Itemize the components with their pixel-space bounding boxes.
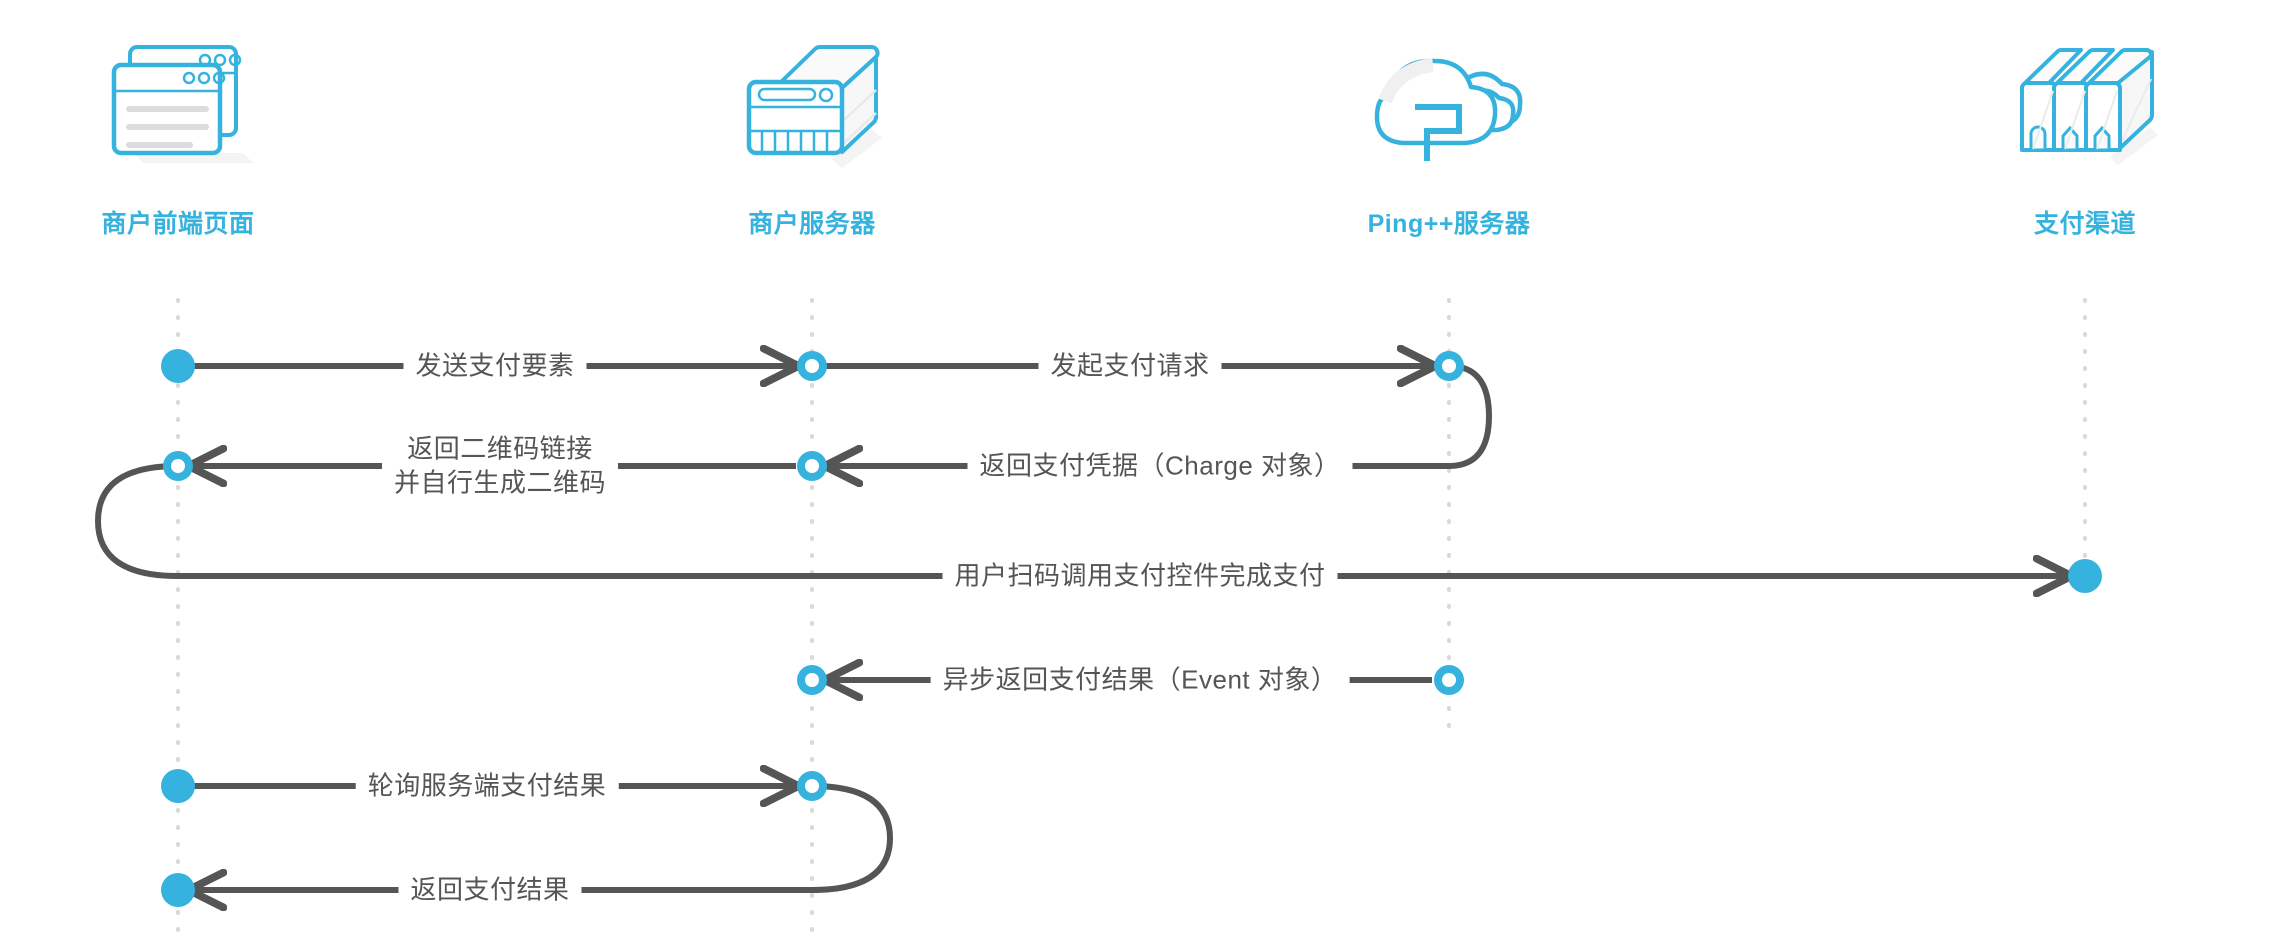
message-label-return-qr-link: 返回二维码链接 并自行生成二维码 [382, 432, 618, 501]
message-line: 并自行生成二维码 [394, 466, 606, 500]
message-line: 返回支付凭据（Charge 对象） [980, 448, 1341, 483]
node-server-event-inner [805, 673, 819, 687]
message-line: 轮询服务端支付结果 [368, 768, 607, 803]
node-server-receive-inner [805, 359, 819, 373]
message-line: 返回二维码链接 [394, 432, 606, 466]
connector-merchant-loop [790, 786, 890, 890]
message-line: 发送支付要素 [415, 348, 574, 383]
message-line: 返回支付结果 [410, 872, 569, 907]
node-pingpp-event-inner [1442, 673, 1456, 687]
node-server-poll-inner [805, 779, 819, 793]
sequence-diagram-canvas: 商户前端页面 [0, 0, 2281, 948]
node-frontend-qr-inner [171, 459, 185, 473]
message-label-poll-payment-result: 轮询服务端支付结果 [356, 768, 619, 803]
message-label-send-payment-elements: 发送支付要素 [403, 348, 586, 383]
message-line: 发起支付请求 [1050, 348, 1209, 383]
message-label-initiate-payment-request: 发起支付请求 [1038, 348, 1221, 383]
node-frontend-poll [161, 769, 195, 803]
message-label-async-event-result: 异步返回支付结果（Event 对象） [931, 662, 1350, 697]
message-line: 用户扫码调用支付控件完成支付 [954, 558, 1325, 593]
node-pingpp-receive-inner [1442, 359, 1456, 373]
node-frontend-result [161, 873, 195, 907]
node-server-charge-inner [805, 459, 819, 473]
message-label-return-charge-object: 返回支付凭据（Charge 对象） [968, 448, 1353, 483]
message-label-return-payment-result: 返回支付结果 [398, 872, 581, 907]
node-frontend-send [161, 349, 195, 383]
message-line: 异步返回支付结果（Event 对象） [943, 662, 1338, 697]
node-channel-pay [2068, 559, 2102, 593]
message-label-user-scan-pay: 用户扫码调用支付控件完成支付 [942, 558, 1337, 593]
